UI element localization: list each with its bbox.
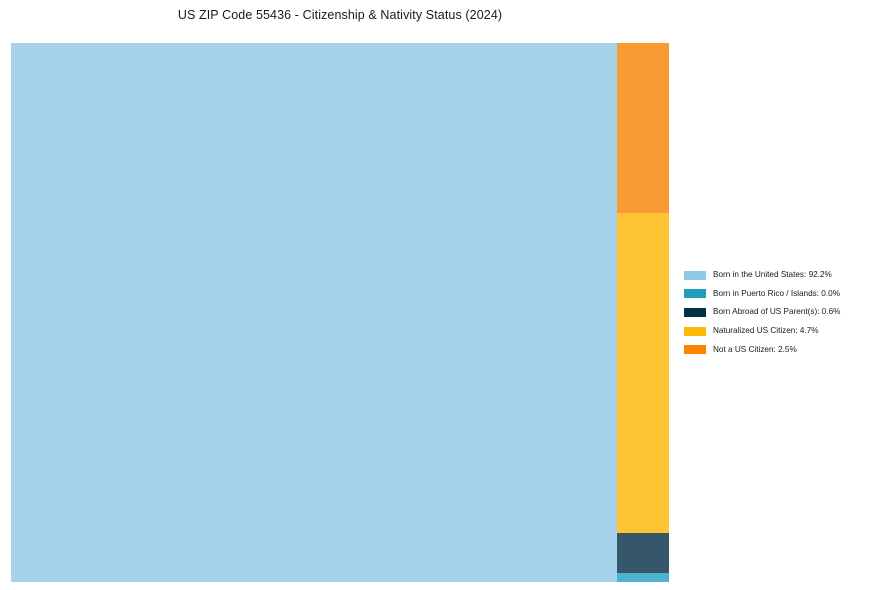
legend-item-label: Born in Puerto Rico / Islands: 0.0%	[713, 290, 840, 298]
treemap-tile[interactable]: Born in the United States: 92.2%	[11, 43, 617, 582]
chart-legend: Born in the United States: 92.2%Born in …	[684, 266, 879, 359]
legend-item[interactable]: Not a US Citizen: 2.5%	[684, 340, 879, 359]
treemap-tile[interactable]: Not a US Citizen: 2.5%	[617, 43, 669, 213]
treemap-tile[interactable]: Born Abroad of US Parent(s): 0.6%	[617, 533, 669, 573]
chart-title: US ZIP Code 55436 - Citizenship & Nativi…	[0, 8, 680, 22]
legend-swatch-icon	[684, 327, 706, 336]
legend-item-label: Not a US Citizen: 2.5%	[713, 346, 797, 354]
legend-item-label: Born Abroad of US Parent(s): 0.6%	[713, 308, 840, 316]
legend-item-label: Born in the United States: 92.2%	[713, 271, 832, 279]
legend-item[interactable]: Born in Puerto Rico / Islands: 0.0%	[684, 285, 879, 304]
chart-figure: US ZIP Code 55436 - Citizenship & Nativi…	[0, 0, 889, 590]
treemap-plot-area: Born in the United States: 92.2%Not a US…	[11, 43, 669, 582]
treemap-tile[interactable]: Born in Puerto Rico / Islands: 0.0%	[617, 573, 669, 582]
legend-swatch-icon	[684, 271, 706, 280]
treemap-tile[interactable]: Naturalized US Citizen: 4.7%	[617, 213, 669, 533]
legend-swatch-icon	[684, 345, 706, 354]
legend-item[interactable]: Naturalized US Citizen: 4.7%	[684, 322, 879, 341]
legend-swatch-icon	[684, 289, 706, 298]
legend-item[interactable]: Born Abroad of US Parent(s): 0.6%	[684, 303, 879, 322]
legend-item-label: Naturalized US Citizen: 4.7%	[713, 327, 819, 335]
legend-swatch-icon	[684, 308, 706, 317]
legend-item[interactable]: Born in the United States: 92.2%	[684, 266, 879, 285]
